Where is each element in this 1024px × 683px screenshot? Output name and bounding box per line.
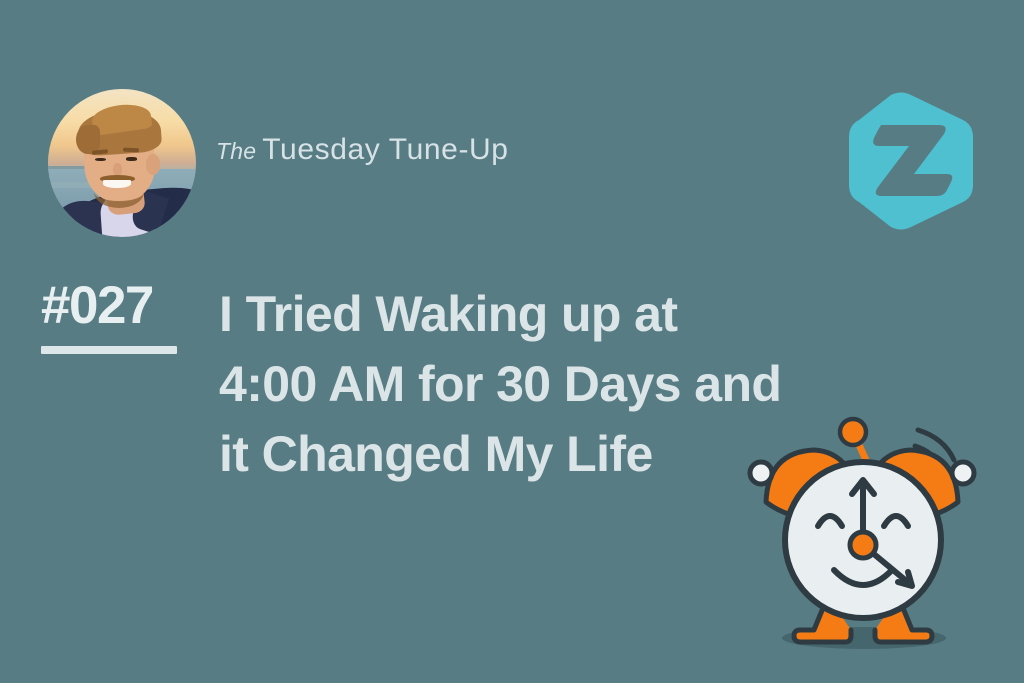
clock-bell-knob-right <box>952 462 974 484</box>
show-title: TheTuesday Tune-Up <box>216 133 509 167</box>
hexagon-z-logo-icon <box>845 92 977 230</box>
avatar <box>48 89 196 237</box>
show-title-prefix: The <box>216 138 256 164</box>
avatar-eye-right <box>126 157 136 161</box>
clock-center-pivot <box>850 532 876 558</box>
alarm-clock-illustration <box>722 404 1002 666</box>
brand-logo <box>845 92 977 230</box>
podcast-cover-canvas: TheTuesday Tune-Up #027 I Tried Waking u… <box>0 0 1024 683</box>
alarm-clock-icon <box>722 404 1002 666</box>
clock-bell-knob-left <box>750 462 772 484</box>
headline-line-1: I Tried Waking up at <box>219 279 919 349</box>
episode-underline-rule <box>41 346 177 354</box>
episode-number: #027 <box>41 279 221 332</box>
show-title-name: Tuesday Tune-Up <box>262 133 508 166</box>
clock-hammer-knob <box>840 419 866 445</box>
episode-number-block: #027 <box>41 279 221 354</box>
